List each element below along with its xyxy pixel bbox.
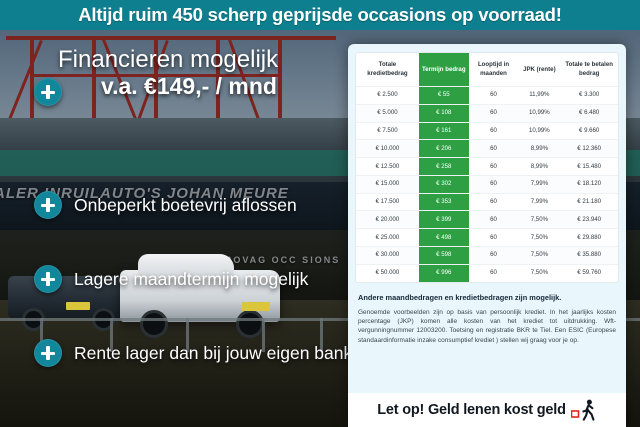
table-cell: € 17.500 xyxy=(356,193,419,211)
credit-warning-bar: Let op! Geld lenen kost geld xyxy=(348,393,626,427)
table-cell: € 25.000 xyxy=(356,229,419,247)
feature-item-aflossen: Onbeperkt boetevrij aflossen xyxy=(0,190,348,220)
table-cell: 60 xyxy=(469,87,519,105)
monthly-amount-cell: € 302 xyxy=(419,175,469,193)
table-cell: € 12.360 xyxy=(560,140,618,158)
table-row: € 25.000€ 498607,50%€ 29.880 xyxy=(356,229,618,247)
table-cell: 60 xyxy=(469,158,519,176)
finance-headline: Financieren mogelijk v.a. €149,- / mnd xyxy=(58,46,338,100)
table-cell: 8,99% xyxy=(518,140,560,158)
table-cell: € 20.000 xyxy=(356,211,419,229)
table-header-cell: JPK (rente) xyxy=(518,53,560,87)
loan-table-container: Totale kredietbedrag Termijn bedrag Loop… xyxy=(355,52,619,283)
feature-item-maandtermijn: Lagere maandtermijn mogelijk xyxy=(0,264,348,294)
table-cell: 60 xyxy=(469,211,519,229)
table-row: € 5.000€ 1086010,99%€ 6.480 xyxy=(356,104,618,122)
loan-table: Totale kredietbedrag Termijn bedrag Loop… xyxy=(356,53,618,282)
table-cell: 11,99% xyxy=(518,87,560,105)
monthly-amount-cell: € 108 xyxy=(419,104,469,122)
monthly-amount-cell: € 996 xyxy=(419,264,469,281)
table-cell: € 10.000 xyxy=(356,140,419,158)
monthly-amount-cell: € 498 xyxy=(419,229,469,247)
monthly-amount-cell: € 258 xyxy=(419,158,469,176)
table-cell: € 23.940 xyxy=(560,211,618,229)
table-cell: € 12.500 xyxy=(356,158,419,176)
disclaimer-heading: Andere maandbedragen en kredietbedragen … xyxy=(358,293,616,303)
table-cell: € 29.880 xyxy=(560,229,618,247)
table-cell: 60 xyxy=(469,140,519,158)
table-row: € 12.500€ 258608,99%€ 15.480 xyxy=(356,158,618,176)
feature-label: Lagere maandtermijn mogelijk xyxy=(74,265,308,293)
table-cell: € 30.000 xyxy=(356,247,419,265)
table-cell: 7,99% xyxy=(518,193,560,211)
plus-icon xyxy=(34,265,62,293)
table-cell: € 5.000 xyxy=(356,104,419,122)
table-cell: € 18.120 xyxy=(560,175,618,193)
promo-banner: ALER INRUILAUTO'S JOHAN MEURE ALTIJD 450… xyxy=(0,0,640,427)
table-cell: 60 xyxy=(469,122,519,140)
table-row: € 20.000€ 399607,50%€ 23.940 xyxy=(356,211,618,229)
finance-headline-line2: v.a. €149,- / mnd xyxy=(58,73,338,100)
finance-headline-line1: Financieren mogelijk xyxy=(58,46,338,73)
table-row: € 50.000€ 996607,50%€ 59.760 xyxy=(356,264,618,281)
feature-item-rente: Rente lager dan bij jouw eigen bank xyxy=(0,338,348,368)
monthly-amount-cell: € 353 xyxy=(419,193,469,211)
table-cell: 60 xyxy=(469,175,519,193)
table-cell: € 15.480 xyxy=(560,158,618,176)
table-cell: 60 xyxy=(469,247,519,265)
table-cell: 7,99% xyxy=(518,175,560,193)
table-cell: 10,99% xyxy=(518,104,560,122)
table-cell: € 9.660 xyxy=(560,122,618,140)
table-cell: € 3.300 xyxy=(560,87,618,105)
table-header-cell: Totale te betalen bedrag xyxy=(560,53,618,87)
table-cell: 7,50% xyxy=(518,229,560,247)
table-row: € 2.500€ 556011,99%€ 3.300 xyxy=(356,87,618,105)
feature-label: Rente lager dan bij jouw eigen bank xyxy=(74,339,352,367)
table-header-cell: Looptijd in maanden xyxy=(469,53,519,87)
table-body: € 2.500€ 556011,99%€ 3.300€ 5.000€ 10860… xyxy=(356,87,618,282)
top-banner: Altijd ruim 450 scherp geprijsde occasio… xyxy=(0,0,640,30)
loan-table-card: Totale kredietbedrag Termijn bedrag Loop… xyxy=(348,44,626,427)
disclaimer-body: Genoemde voorbeelden zijn op basis van p… xyxy=(358,308,616,346)
feature-label: Onbeperkt boetevrij aflossen xyxy=(74,191,297,219)
disclaimer: Andere maandbedragen en kredietbedragen … xyxy=(358,293,616,346)
plus-icon xyxy=(34,339,62,367)
table-cell: 8,99% xyxy=(518,158,560,176)
monthly-amount-cell: € 206 xyxy=(419,140,469,158)
table-header-cell: Termijn bedrag xyxy=(419,53,469,87)
table-header-row: Totale kredietbedrag Termijn bedrag Loop… xyxy=(356,53,618,87)
plus-icon xyxy=(34,191,62,219)
table-cell: € 15.000 xyxy=(356,175,419,193)
card-spacer xyxy=(348,383,626,393)
table-cell: 60 xyxy=(469,264,519,281)
table-row: € 15.000€ 302607,99%€ 18.120 xyxy=(356,175,618,193)
table-cell: 7,50% xyxy=(518,211,560,229)
table-header-cell: Totale kredietbedrag xyxy=(356,53,419,87)
table-cell: € 21.180 xyxy=(560,193,618,211)
table-cell: 60 xyxy=(469,104,519,122)
features-panel: Financieren mogelijk v.a. €149,- / mnd O… xyxy=(0,30,348,427)
monthly-amount-cell: € 161 xyxy=(419,122,469,140)
table-row: € 17.500€ 353607,99%€ 21.180 xyxy=(356,193,618,211)
table-row: € 7.500€ 1616010,99%€ 9.660 xyxy=(356,122,618,140)
monthly-amount-cell: € 598 xyxy=(419,247,469,265)
table-cell: 7,50% xyxy=(518,264,560,281)
table-cell: € 2.500 xyxy=(356,87,419,105)
banner-headline: Altijd ruim 450 scherp geprijsde occasio… xyxy=(0,0,640,30)
monthly-amount-cell: € 55 xyxy=(419,87,469,105)
walking-man-pushing-block-icon xyxy=(571,399,597,421)
table-cell: € 50.000 xyxy=(356,264,419,281)
credit-warning-text: Let op! Geld lenen kost geld xyxy=(377,402,566,418)
table-cell: 60 xyxy=(469,229,519,247)
table-cell: € 6.480 xyxy=(560,104,618,122)
table-row: € 30.000€ 598607,50%€ 35.880 xyxy=(356,247,618,265)
table-cell: € 59.760 xyxy=(560,264,618,281)
table-cell: € 7.500 xyxy=(356,122,419,140)
table-cell: 60 xyxy=(469,193,519,211)
monthly-amount-cell: € 399 xyxy=(419,211,469,229)
table-cell: 10,99% xyxy=(518,122,560,140)
table-cell: 7,50% xyxy=(518,247,560,265)
table-row: € 10.000€ 206608,99%€ 12.360 xyxy=(356,140,618,158)
table-cell: € 35.880 xyxy=(560,247,618,265)
